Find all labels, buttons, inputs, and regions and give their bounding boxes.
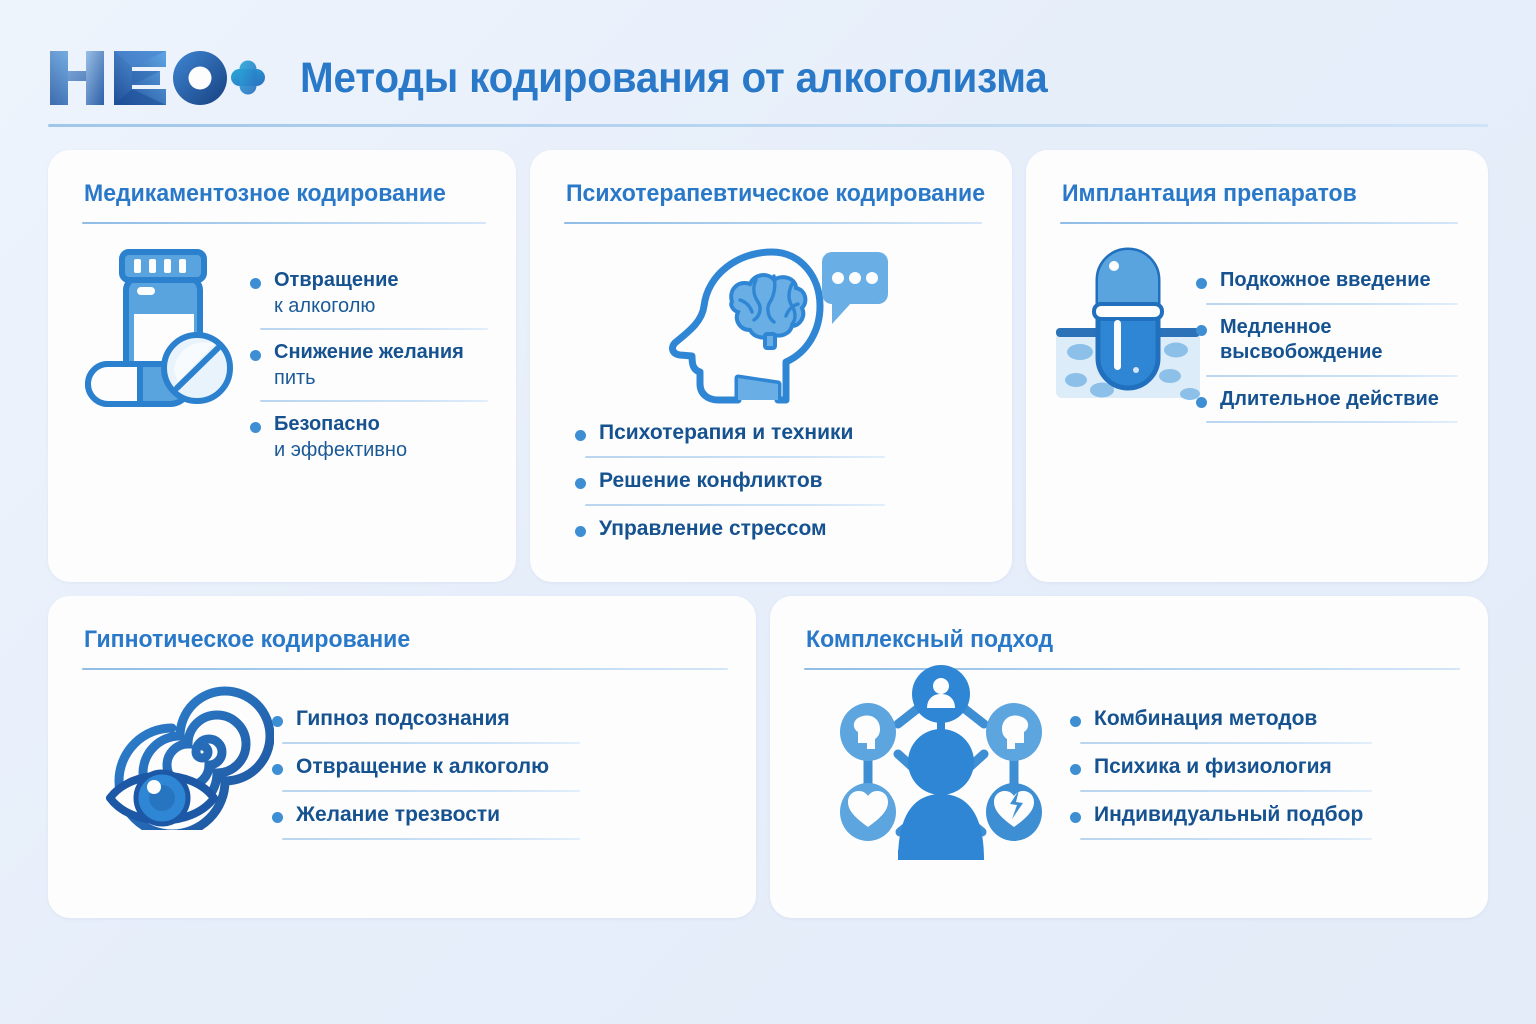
bullet-primary-text: Отвращение к алкоголю (296, 754, 582, 781)
list-separator (585, 456, 885, 458)
bullet-list-kompleksnyy-podhod: Комбинация методов Психика и физиология … (1070, 706, 1374, 840)
pill-bottle-icon (82, 248, 238, 412)
list-separator (260, 400, 488, 402)
card-title: Психотерапевтическое кодирование (566, 180, 985, 208)
bullet-primary-text: Гипноз подсознания (296, 706, 582, 733)
page-title: Методы кодирования от алкоголизма (300, 54, 1048, 103)
bullet-primary-text: Индивидуальный подбор (1094, 802, 1374, 829)
list-item: Медленное высвобождение (1196, 315, 1458, 366)
bullet-primary-text: Желание трезвости (296, 802, 582, 829)
bullet-primary-text: Комбинация методов (1094, 706, 1374, 733)
list-item: Снижение желания пить (250, 340, 490, 391)
bullet-dot-icon (272, 764, 283, 775)
list-separator (1080, 790, 1372, 792)
bullet-secondary-text: и эффективно (274, 438, 490, 464)
list-item: Длительное действие (1196, 387, 1458, 413)
bullet-list-medikamentoznoe: Отвращение к алкоголю Снижение желания п… (250, 268, 490, 464)
card-title-divider (82, 222, 486, 224)
list-item: Управление стрессом (575, 516, 895, 543)
bullet-dot-icon (272, 812, 283, 823)
bullet-primary-text: Решение конфликтов (599, 468, 895, 495)
header: Методы кодирования от алкоголизма (48, 28, 1488, 128)
head-brain-speech-icon (660, 244, 892, 408)
bullet-primary-text: Управление стрессом (599, 516, 895, 543)
bullet-dot-icon (575, 430, 586, 441)
bullet-dot-icon (1196, 397, 1207, 408)
list-item: Комбинация методов (1070, 706, 1374, 733)
bullet-primary-text: Подкожное введение (1220, 268, 1458, 294)
card-title-divider (82, 668, 728, 670)
bullet-list-psihoterapevticheskoe: Психотерапия и техники Решение конфликто… (575, 420, 895, 543)
bullet-dot-icon (1070, 812, 1081, 823)
bullet-dot-icon (250, 422, 261, 433)
list-item: Отвращение к алкоголю (250, 268, 490, 319)
bullet-primary-text: Психотерапия и техники (599, 420, 895, 447)
list-separator (282, 742, 580, 744)
person-network-icon (838, 662, 1044, 868)
list-separator (1080, 742, 1372, 744)
hypnosis-eye-spiral-icon (106, 680, 274, 830)
bullet-primary-text: Психика и физиология (1094, 754, 1374, 781)
bullet-dot-icon (250, 350, 261, 361)
infographic-page: Методы кодирования от алкоголизма Медика… (0, 0, 1536, 1024)
list-item: Подкожное введение (1196, 268, 1458, 294)
bullet-secondary-text: пить (274, 366, 490, 392)
list-separator (1206, 375, 1458, 377)
list-item: Психика и физиология (1070, 754, 1374, 781)
bullet-primary-text: Отвращение (274, 268, 490, 294)
bullet-dot-icon (1070, 764, 1081, 775)
card-title: Имплантация препаратов (1062, 180, 1357, 208)
card-title: Комплексный подход (806, 626, 1053, 654)
card-title-divider (564, 222, 982, 224)
bullet-dot-icon (272, 716, 283, 727)
list-separator (585, 504, 885, 506)
bullet-list-gipnoticheskoe: Гипноз подсознания Отвращение к алкоголю… (272, 706, 582, 840)
list-separator (282, 838, 580, 840)
list-item: Решение конфликтов (575, 468, 895, 495)
list-separator (1206, 421, 1458, 423)
bullet-primary-text: Безопасно (274, 412, 490, 438)
list-item: Психотерапия и техники (575, 420, 895, 447)
bullet-dot-icon (1196, 278, 1207, 289)
bullet-dot-icon (1070, 716, 1081, 727)
bullet-primary-text: Снижение желания (274, 340, 490, 366)
bullet-dot-icon (575, 526, 586, 537)
list-separator (1206, 303, 1458, 305)
list-separator (282, 790, 580, 792)
list-item: Отвращение к алкоголю (272, 754, 582, 781)
bullet-dot-icon (1196, 325, 1207, 336)
bullet-dot-icon (250, 278, 261, 289)
bullet-secondary-text: к алкоголю (274, 294, 490, 320)
bullet-primary-text-wrap: высвобождение (1220, 340, 1458, 366)
capsule-implant-icon (1052, 244, 1204, 404)
card-title: Гипнотическое кодирование (84, 626, 410, 654)
header-divider (48, 124, 1488, 127)
list-item: Желание трезвости (272, 802, 582, 829)
list-separator (260, 328, 488, 330)
card-title-divider (1060, 222, 1458, 224)
list-separator (1080, 838, 1372, 840)
bullet-primary-text: Длительное действие (1220, 387, 1458, 413)
card-title: Медикаментозное кодирование (84, 180, 446, 208)
bullet-list-implantaciya: Подкожное введение Медленное высвобожден… (1196, 268, 1458, 423)
list-item: Безопасно и эффективно (250, 412, 490, 463)
bullet-dot-icon (575, 478, 586, 489)
list-item: Гипноз подсознания (272, 706, 582, 733)
neo-plus-logo (48, 47, 266, 109)
list-item: Индивидуальный подбор (1070, 802, 1374, 829)
bullet-primary-text: Медленное (1220, 315, 1458, 341)
